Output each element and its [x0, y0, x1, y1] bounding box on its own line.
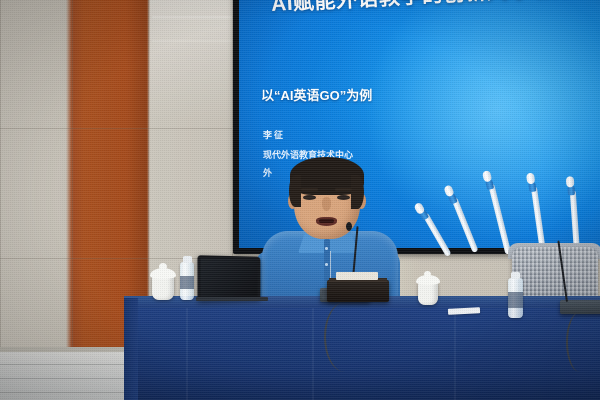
teacup-knob — [159, 263, 167, 270]
eye-left — [303, 195, 316, 200]
presentation-photo: AI赋能外语教学的创新人才培养 以“AI英语GO”为例 李征 现代外语教育技术中… — [0, 0, 600, 400]
laptop-base — [196, 297, 268, 301]
mic-head — [346, 222, 352, 231]
mic-cable — [324, 302, 366, 372]
teacup-knob — [424, 271, 431, 277]
name-card — [336, 272, 378, 280]
bottle-cap — [511, 272, 520, 279]
eye-right — [337, 195, 350, 200]
bottle-label — [180, 276, 194, 289]
bottle-label — [508, 292, 523, 308]
nose — [322, 197, 331, 211]
bottle-cap — [183, 256, 192, 263]
mic-cable — [566, 312, 594, 372]
laptop-screen — [201, 258, 258, 297]
nameplate-box — [327, 280, 389, 302]
